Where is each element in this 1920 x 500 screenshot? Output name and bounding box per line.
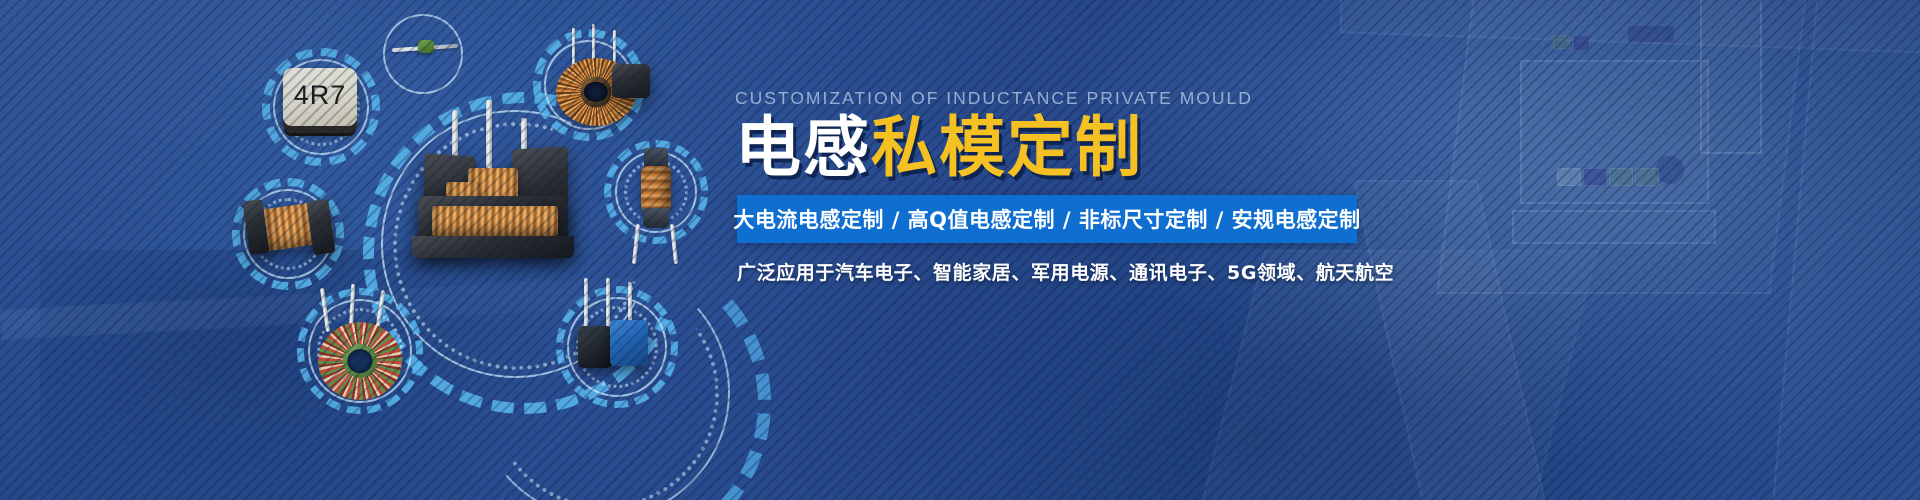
product-medallion-axial-inductor xyxy=(383,14,463,94)
banner-headline: 电感私模定制 xyxy=(735,112,1143,184)
smd-inductor-marking: 4R7 xyxy=(294,80,347,111)
banner-eyebrow-english: CUSTOMIZATION OF INDUCTANCE PRIVATE MOUL… xyxy=(735,88,1253,109)
banner-application-subtitle: 广泛应用于汽车电子、智能家居、军用电源、通讯电子、5G领域、航天航空 xyxy=(737,258,1394,285)
hero-base-plate xyxy=(412,236,574,258)
banner-text-column: CUSTOMIZATION OF INDUCTANCE PRIVATE MOUL… xyxy=(735,0,1835,500)
service-list-pill[interactable]: 大电流电感定制 / 高Q值电感定制 / 非标尺寸定制 / 安规电感定制 xyxy=(737,195,1357,243)
axial-inductor-body xyxy=(418,40,434,53)
toroid-mount-block xyxy=(612,64,650,98)
headline-part-gold: 私模定制 xyxy=(871,109,1143,186)
rod-inductor-winding xyxy=(641,166,671,212)
headline-part-white: 电感 xyxy=(735,109,871,186)
hero-pin-2 xyxy=(486,100,492,174)
rod-inductor-base xyxy=(643,208,669,228)
smd-power-inductor: 4R7 xyxy=(283,68,357,126)
inductance-customization-banner: 4R7 xyxy=(0,0,1920,500)
blue-component-black-body xyxy=(578,326,612,368)
hero-copper-band xyxy=(432,206,558,236)
green-toroid-winding xyxy=(318,322,402,400)
medallion-ring-thin-icon xyxy=(383,14,463,94)
service-list-text: 大电流电感定制 / 高Q值电感定制 / 非标尺寸定制 / 安规电感定制 xyxy=(733,204,1360,234)
blue-component-blue-body xyxy=(610,320,648,366)
